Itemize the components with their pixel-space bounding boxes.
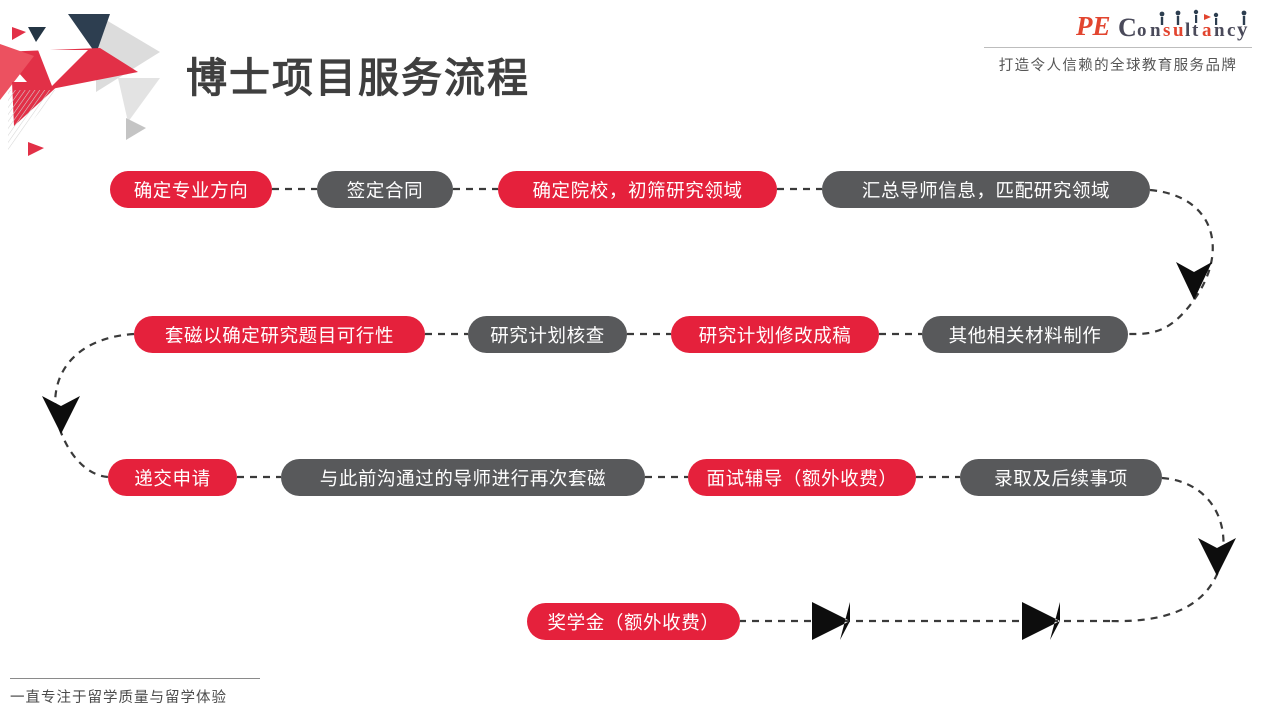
connector-wrap-left [55, 334, 134, 477]
svg-text:c: c [1227, 20, 1235, 41]
brand-tagline: 打造令人信赖的全球教育服务品牌 [984, 54, 1252, 75]
flow-node-r1c4[interactable]: 汇总导师信息，匹配研究领域 [822, 171, 1150, 208]
svg-text:t: t [1192, 20, 1199, 41]
connector-wrap-right-2 [1110, 478, 1223, 621]
flow-node-r2c2[interactable]: 研究计划核查 [468, 316, 627, 353]
brand-logo: PE C o n s u l t a n c y [1074, 8, 1252, 44]
decoration-triangle-navy-large [68, 14, 110, 54]
decoration-triangle-red-tiny-top [12, 27, 26, 40]
decoration-triangle-gray-large [96, 14, 160, 92]
decoration-triangle-white-notch [38, 50, 88, 86]
brand-block: PE C o n s u l t a n c y 打造令人信赖的全球教育服务品牌 [984, 8, 1252, 75]
svg-text:C: C [1118, 13, 1137, 42]
flow-node-r3c3[interactable]: 面试辅导（额外收费） [688, 459, 916, 496]
decoration-triangle-navy-small [28, 27, 46, 42]
decoration-triangle-gray-mid [118, 78, 160, 122]
svg-text:PE: PE [1075, 11, 1111, 41]
footer-divider [10, 678, 260, 679]
decoration-triangle-red-lower [12, 82, 62, 126]
flow-node-r1c1[interactable]: 确定专业方向 [110, 171, 272, 208]
arrow-down-right-2 [1198, 538, 1236, 576]
flow-node-r3c1[interactable]: 递交申请 [108, 459, 237, 496]
footer-block: 一直专注于留学质量与留学体验 [10, 678, 260, 707]
flow-node-r2c4[interactable]: 其他相关材料制作 [922, 316, 1128, 353]
decoration-red-band [0, 48, 138, 92]
svg-text:a: a [1202, 20, 1212, 41]
svg-text:o: o [1137, 20, 1147, 41]
page-title: 博士项目服务流程 [186, 44, 530, 104]
flow-node-r2c1[interactable]: 套磁以确定研究题目可行性 [134, 316, 425, 353]
flow-node-r4c1[interactable]: 奖学金（额外收费） [527, 603, 740, 640]
decoration-triangle-red-tiny-bottom [28, 142, 44, 156]
flow-node-r3c4[interactable]: 录取及后续事项 [960, 459, 1162, 496]
svg-text:n: n [1150, 20, 1161, 41]
svg-text:s: s [1163, 20, 1170, 41]
flow-node-r3c2[interactable]: 与此前沟通过的导师进行再次套磁 [281, 459, 645, 496]
corner-decoration [0, 0, 180, 160]
arrow-down-right-1 [1176, 262, 1212, 300]
arrow-down-left [42, 396, 80, 434]
decoration-hatch-area [8, 90, 58, 150]
brand-divider [984, 47, 1252, 48]
flow-node-r1c3[interactable]: 确定院校，初筛研究领域 [498, 171, 777, 208]
arrow-left-2 [812, 602, 850, 640]
arrow-left-1 [1022, 602, 1060, 640]
svg-text:y: y [1237, 17, 1248, 41]
flow-node-r1c2[interactable]: 签定合同 [317, 171, 453, 208]
decoration-triangle-gray-small [126, 118, 146, 140]
flow-node-r2c3[interactable]: 研究计划修改成稿 [671, 316, 879, 353]
decoration-triangle-red-left [0, 44, 34, 100]
footer-text: 一直专注于留学质量与留学体验 [10, 686, 260, 707]
svg-text:l: l [1185, 20, 1190, 41]
connector-wrap-right-1 [1128, 190, 1213, 334]
